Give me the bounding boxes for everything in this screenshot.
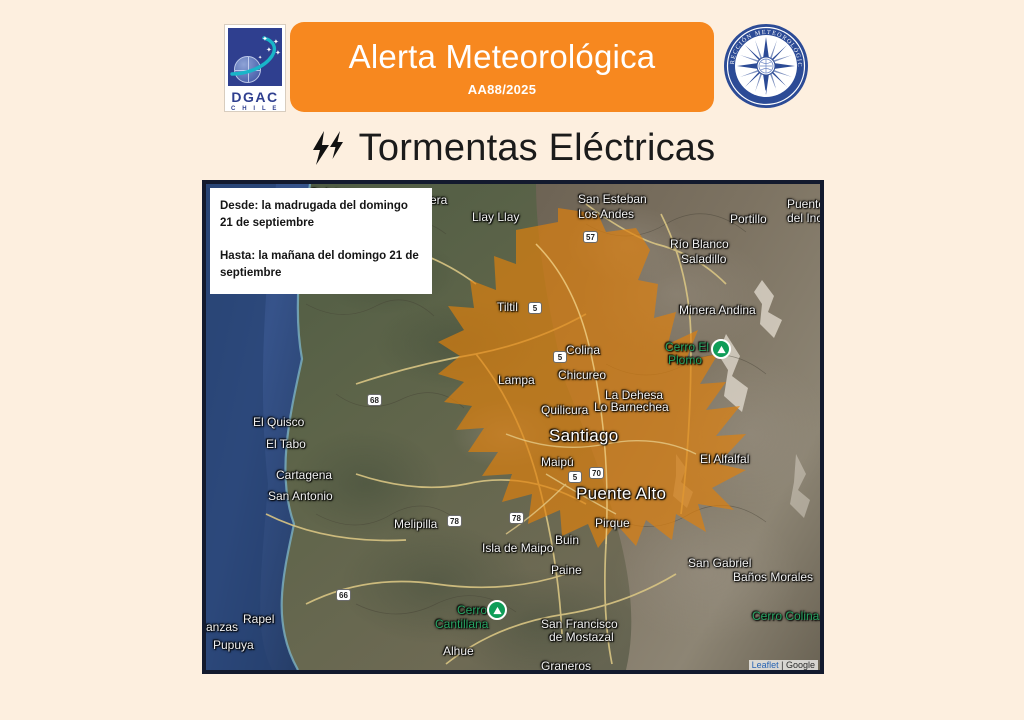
hazard-type-row: Tormentas Eléctricas [0, 122, 1024, 174]
cerro-cantillana-park-pin[interactable] [487, 600, 507, 620]
map-attribution: Leaflet | Google [749, 660, 818, 670]
route-shield-68: 68 [367, 394, 382, 406]
dgac-emblem-icon: ✦ ✦ ✦ ✦ ✦ [228, 28, 282, 86]
dgac-logo-country: C H I L E [228, 106, 282, 112]
star-icon: ✦ [266, 47, 272, 54]
dgac-logo-name: DGAC [228, 89, 282, 105]
alert-period-until: Hasta: la mañana del domingo 21 de septi… [220, 248, 422, 282]
map-provider: Google [786, 660, 815, 670]
alert-map[interactable]: Llay LlaySan EstebanLos AndesPortilloPue… [202, 180, 824, 674]
leaflet-link[interactable]: Leaflet [752, 660, 779, 670]
cerro-el-plomo-park-pin[interactable] [711, 339, 731, 359]
route-shield-5: 5 [528, 302, 542, 314]
dgac-logo: ✦ ✦ ✦ ✦ ✦ DGAC C H I L E [224, 24, 286, 112]
route-shield-70: 70 [589, 467, 604, 479]
alert-header: ✦ ✦ ✦ ✦ ✦ DGAC C H I L E Alerta Meteorol… [0, 0, 1024, 118]
double-lightning-bolt-icon [309, 128, 349, 168]
route-shield-5: 5 [553, 351, 567, 363]
alert-banner: Alerta Meteorológica AA88/2025 [290, 22, 714, 112]
route-shield-5: 5 [568, 471, 582, 483]
star-icon: ✦ [275, 50, 281, 57]
star-icon: ✦ [258, 55, 262, 62]
route-shield-78: 78 [447, 515, 462, 527]
star-icon: ✦ [262, 36, 268, 43]
star-icon: ✦ [273, 39, 279, 46]
route-shield-66: 66 [336, 589, 351, 601]
route-shield-57: 57 [583, 231, 598, 243]
mountain-icon [716, 344, 727, 355]
meteochile-seal: DIRECCIÓN METEOROLÓGICA METEOCHILE [722, 22, 810, 110]
hazard-label: Tormentas Eléctricas [359, 127, 716, 170]
alert-period-info-box: Desde: la madrugada del domingo 21 de se… [210, 188, 432, 294]
alert-period-from: Desde: la madrugada del domingo 21 de se… [220, 198, 422, 232]
alert-title: Alerta Meteorológica [349, 37, 656, 77]
compass-star-seal-icon: DIRECCIÓN METEOROLÓGICA METEOCHILE [722, 22, 810, 110]
route-shield-78: 78 [509, 512, 524, 524]
mountain-icon [492, 605, 503, 616]
attribution-separator: | [779, 660, 786, 670]
alert-code: AA88/2025 [468, 82, 536, 97]
